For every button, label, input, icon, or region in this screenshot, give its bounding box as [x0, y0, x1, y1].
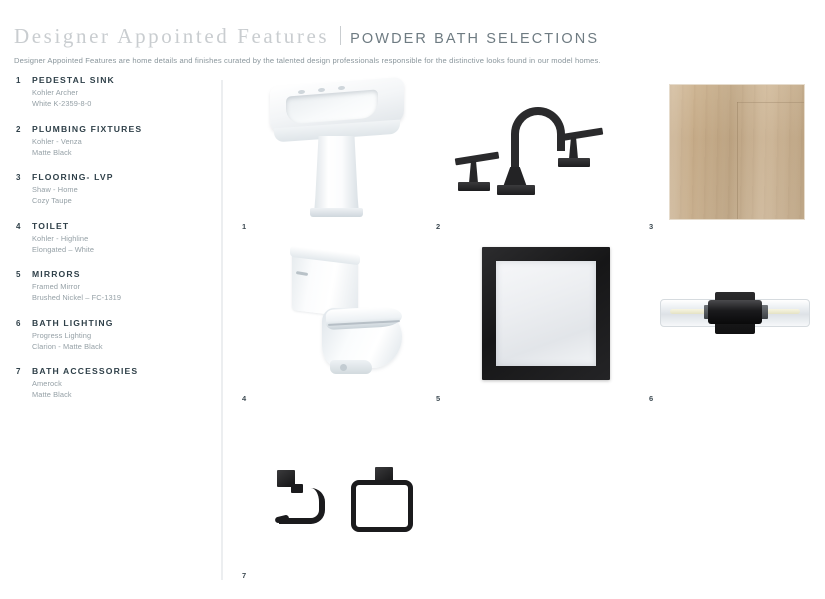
- legend-title: FLOORING- LVP: [32, 173, 204, 182]
- legend-number: 2: [16, 125, 20, 134]
- legend-item-pedestal-sink: 1 PEDESTAL SINK Kohler Archer White K-23…: [14, 76, 204, 110]
- legend-detail-brand: Shaw - Home: [32, 185, 204, 196]
- legend-detail-brand: Kohler - Highline: [32, 234, 204, 245]
- lvp-flooring-swatch: [669, 84, 805, 220]
- legend-number: 1: [16, 76, 20, 85]
- page-title: Designer Appointed Features: [14, 24, 329, 49]
- legend-title: PEDESTAL SINK: [32, 76, 204, 85]
- legend-detail-spec: Cozy Taupe: [32, 196, 204, 207]
- page-header: Designer Appointed Features POWDER BATH …: [14, 24, 814, 65]
- toilet-bolt-cap-icon: [340, 364, 347, 371]
- mirror-glass-icon: [496, 261, 596, 366]
- legend-number: 3: [16, 173, 20, 182]
- legend-detail-brand: Kohler - Venza: [32, 137, 204, 148]
- sink-pedestal-column-icon: [314, 136, 359, 214]
- legend-item-bath-accessories: 7 BATH ACCESSORIES Amerock Matte Black: [14, 367, 204, 401]
- product-number-6: 6: [649, 394, 653, 403]
- legend-detail-spec: Matte Black: [32, 390, 204, 401]
- title-separator: [340, 26, 341, 45]
- product-number-4: 4: [242, 394, 246, 403]
- legend-title: PLUMBING FIXTURES: [32, 125, 204, 134]
- faucet-spout-flare-icon: [503, 167, 527, 187]
- legend-item-plumbing-fixtures: 2 PLUMBING FIXTURES Kohler - Venza Matte…: [14, 125, 204, 159]
- vanity-light-image: [660, 291, 810, 335]
- legend-title: BATH ACCESSORIES: [32, 367, 204, 376]
- legend-title: MIRRORS: [32, 270, 204, 279]
- faucet-spout-base-icon: [497, 185, 535, 195]
- light-center-body-icon: [708, 300, 762, 324]
- legend-title: TOILET: [32, 222, 204, 231]
- legend-detail-spec: Elongated – White: [32, 245, 204, 256]
- product-number-7: 7: [242, 571, 246, 580]
- title-row: Designer Appointed Features POWDER BATH …: [14, 24, 814, 49]
- legend-number: 7: [16, 367, 20, 376]
- vertical-divider: [221, 80, 223, 580]
- legend-detail-brand: Amerock: [32, 379, 204, 390]
- legend-detail-spec: Brushed Nickel – FC-1319: [32, 293, 204, 304]
- legend-detail-spec: Clarion - Matte Black: [32, 342, 204, 353]
- page-subtitle-heading: POWDER BATH SELECTIONS: [350, 31, 599, 47]
- toilet-image: [292, 252, 402, 377]
- toilet-base-icon: [330, 360, 372, 374]
- legend-item-mirrors: 5 MIRRORS Framed Mirror Brushed Nickel –…: [14, 270, 204, 304]
- lvp-swatch-surface: [669, 84, 805, 220]
- product-number-5: 5: [436, 394, 440, 403]
- page-description: Designer Appointed Features are home det…: [14, 56, 814, 65]
- legend-item-flooring-lvp: 3 FLOORING- LVP Shaw - Home Cozy Taupe: [14, 173, 204, 207]
- legend-title: BATH LIGHTING: [32, 319, 204, 328]
- faucet-image: [455, 105, 615, 200]
- towel-ring-icon: [351, 480, 413, 532]
- mirror-frame-icon: [482, 247, 610, 380]
- sink-pedestal-base-icon: [310, 208, 363, 217]
- product-number-3: 3: [649, 222, 653, 231]
- lvp-plank-seam-icon: [737, 102, 738, 219]
- legend-detail-spec: Matte Black: [32, 148, 204, 159]
- legend-detail-spec: White K-2359-8-0: [32, 99, 204, 110]
- legend-number: 4: [16, 222, 20, 231]
- legend-detail-brand: Kohler Archer: [32, 88, 204, 99]
- selections-legend: 1 PEDESTAL SINK Kohler Archer White K-23…: [14, 76, 204, 416]
- product-number-2: 2: [436, 222, 440, 231]
- lvp-plank-seam-icon: [737, 102, 804, 103]
- legend-number: 6: [16, 319, 20, 328]
- legend-item-toilet: 4 TOILET Kohler - Highline Elongated – W…: [14, 222, 204, 256]
- legend-item-bath-lighting: 6 BATH LIGHTING Progress Lighting Clario…: [14, 319, 204, 353]
- faucet-spout-arc-icon: [511, 107, 565, 151]
- legend-number: 5: [16, 270, 20, 279]
- pedestal-sink-image: [262, 82, 412, 217]
- legend-detail-brand: Framed Mirror: [32, 282, 204, 293]
- legend-detail-brand: Progress Lighting: [32, 331, 204, 342]
- product-number-1: 1: [242, 222, 246, 231]
- framed-mirror-image: [482, 247, 610, 380]
- bath-accessories-image: [275, 470, 425, 532]
